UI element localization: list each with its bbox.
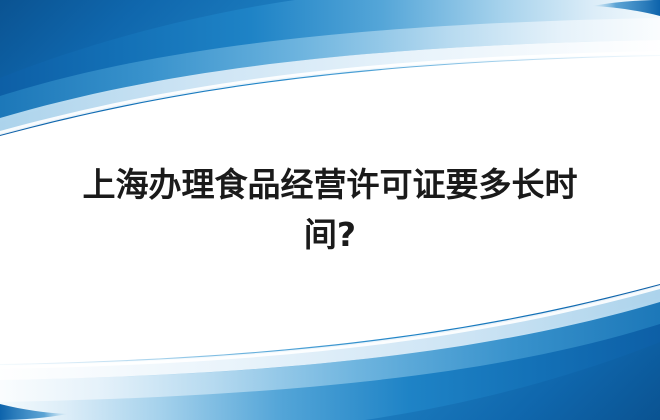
title-banner: 上海办理食品经营许可证要多长时间? bbox=[0, 0, 660, 420]
top-decoration-graphic bbox=[0, 0, 660, 160]
bottom-decoration-graphic bbox=[0, 260, 660, 420]
top-decoration bbox=[0, 0, 660, 160]
bottom-decoration bbox=[0, 260, 660, 420]
page-title: 上海办理食品经营许可证要多长时间? bbox=[60, 160, 600, 260]
